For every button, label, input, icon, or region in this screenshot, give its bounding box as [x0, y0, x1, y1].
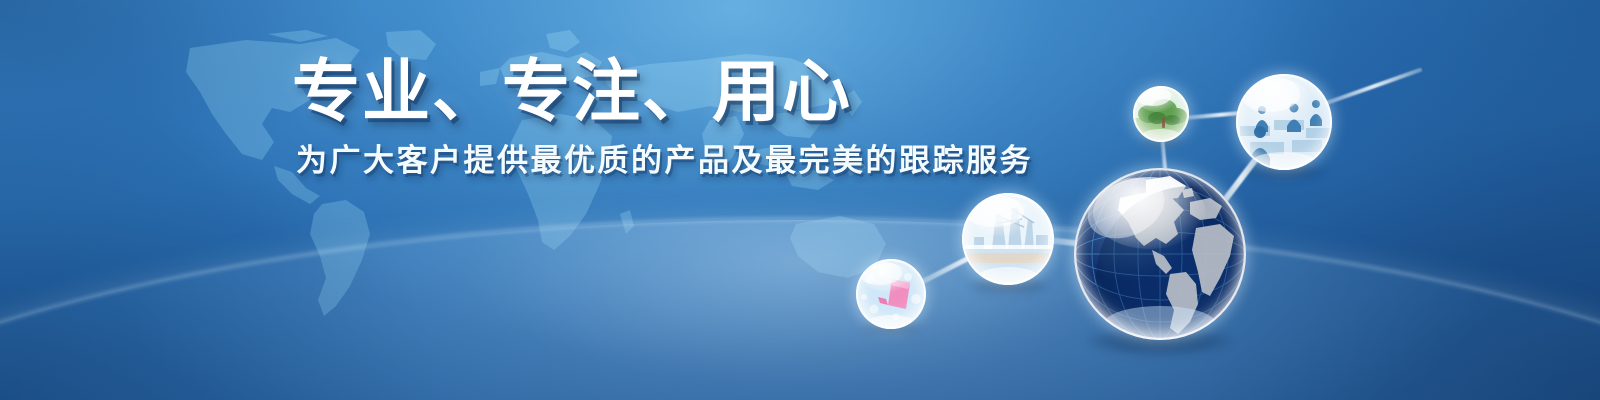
main-globe — [1074, 168, 1246, 340]
page-subtitle: 为广大客户提供最优质的产品及最完美的跟踪服务 — [296, 144, 1033, 180]
people-icon — [1236, 74, 1332, 170]
banner-copy: 专业、专注、用心 为广大客户提供最优质的产品及最完美的跟踪服务 — [292, 58, 1033, 180]
tree-icon — [1133, 86, 1189, 142]
promo-banner: 专业、专注、用心 为广大客户提供最优质的产品及最完美的跟踪服务 — [0, 0, 1600, 400]
page-title: 专业、专注、用心 — [292, 58, 1033, 128]
product-icon — [856, 259, 926, 329]
globe-icon — [1074, 168, 1246, 340]
product-sphere — [856, 259, 926, 329]
industry-sphere — [962, 193, 1054, 285]
people-sphere — [1236, 74, 1332, 170]
factory-icon — [962, 193, 1054, 285]
nature-sphere — [1133, 86, 1189, 142]
